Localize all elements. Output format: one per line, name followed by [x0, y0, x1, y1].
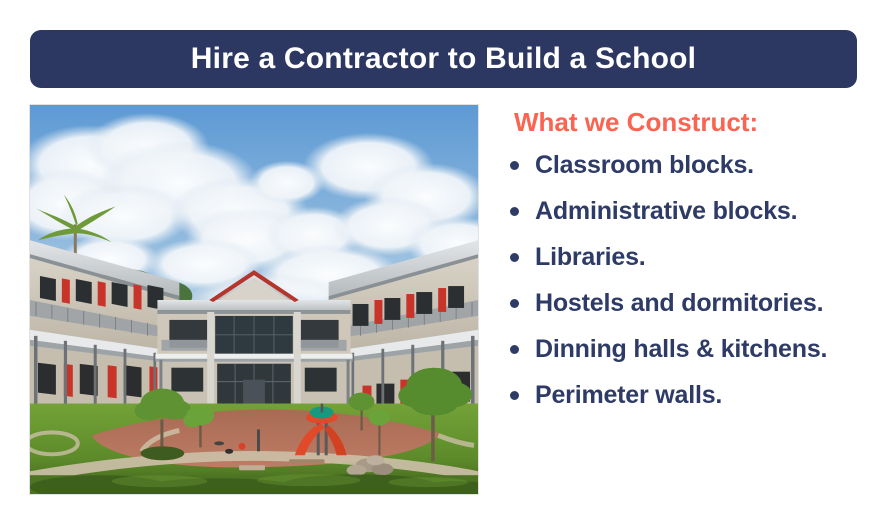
bullet-dot-icon — [510, 299, 519, 308]
bullet-dot-icon — [510, 161, 519, 170]
list-item: Administrative blocks. — [496, 188, 887, 234]
list-item-label: Perimeter walls. — [535, 372, 887, 418]
bullet-dot-icon — [510, 207, 519, 216]
list-item-label: Dinning halls & kitchens. — [535, 326, 887, 372]
what-we-construct-heading: What we Construct: — [514, 108, 758, 138]
list-item-label: Hostels and dormitories. — [535, 280, 887, 326]
bullet-dot-icon — [510, 391, 519, 400]
list-item: Libraries. — [496, 234, 887, 280]
list-item: Classroom blocks. — [496, 142, 887, 188]
list-item: Perimeter walls. — [496, 372, 887, 418]
list-item-label: Administrative blocks. — [535, 188, 887, 234]
list-item: Dinning halls & kitchens. — [496, 326, 887, 372]
construct-services-panel: What we Construct: Classroom blocks. Adm… — [496, 104, 887, 521]
bullet-dot-icon — [510, 345, 519, 354]
school-courtyard-illustration — [30, 105, 478, 494]
list-item: Hostels and dormitories. — [496, 280, 887, 326]
construct-items-list: Classroom blocks. Administrative blocks.… — [496, 142, 887, 418]
school-courtyard-photo — [29, 104, 479, 495]
bullet-dot-icon — [510, 253, 519, 262]
page-title: Hire a Contractor to Build a School — [191, 44, 696, 74]
list-item-label: Classroom blocks. — [535, 142, 887, 188]
page-header-banner: Hire a Contractor to Build a School — [30, 30, 857, 88]
list-item-label: Libraries. — [535, 234, 887, 280]
